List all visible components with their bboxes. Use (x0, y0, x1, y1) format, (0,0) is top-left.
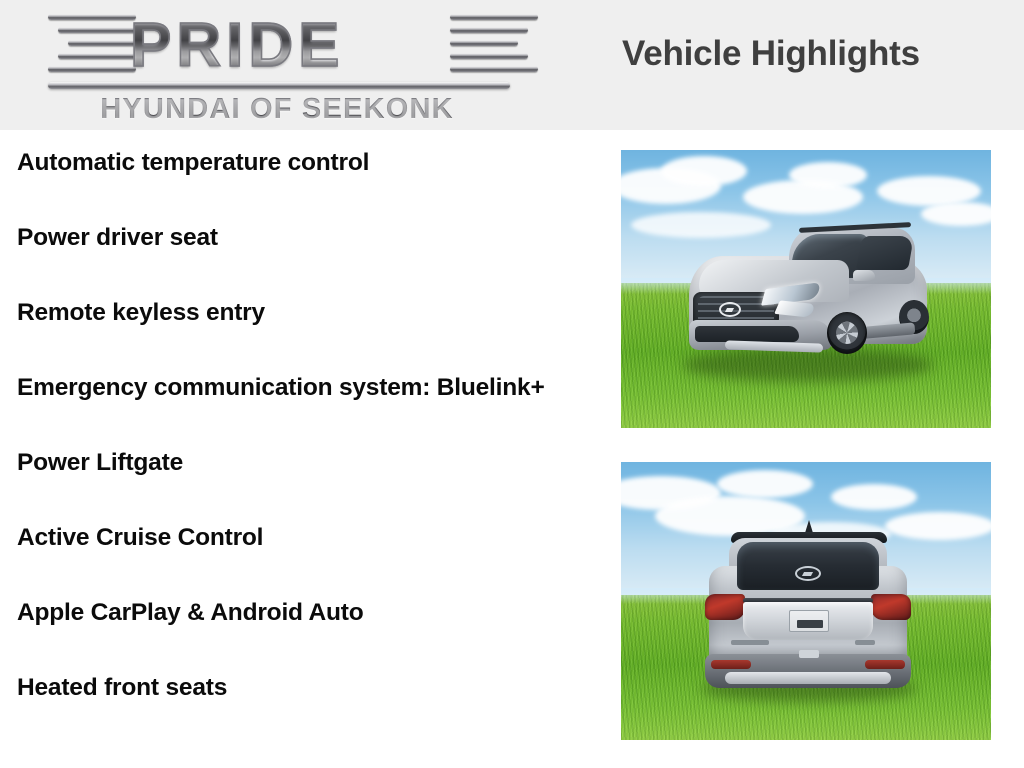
hyundai-emblem-icon (719, 302, 741, 317)
logo-underbar (48, 82, 510, 89)
page-title: Vehicle Highlights (622, 32, 920, 76)
vehicle-photo-rear[interactable] (621, 462, 991, 740)
header-band: PRIDE HYUNDAI OF SEEKONK Vehicle Highlig… (0, 0, 1024, 130)
logo-wordmark-text: PRIDE (130, 10, 344, 82)
list-item: Apple CarPlay & Android Auto (17, 596, 577, 629)
list-item: Automatic temperature control (17, 146, 577, 179)
license-plate-area (789, 610, 829, 632)
vehicle-front-illustration (681, 208, 941, 373)
vehicle-highlights-list: Automatic temperature control Power driv… (17, 146, 577, 704)
vehicle-highlights-page: PRIDE HYUNDAI OF SEEKONK Vehicle Highlig… (0, 0, 1024, 768)
logo-wordmark-wrap: PRIDE (22, 4, 532, 92)
list-item: Heated front seats (17, 671, 577, 704)
logo-right-wing-icon (450, 12, 554, 78)
hyundai-emblem-icon (795, 566, 821, 581)
logo-subtitle-text: HYUNDAI OF SEEKONK (22, 92, 532, 126)
list-item: Power Liftgate (17, 446, 577, 479)
list-item: Remote keyless entry (17, 296, 577, 329)
list-item: Active Cruise Control (17, 521, 577, 554)
vehicle-rear-illustration (703, 514, 913, 694)
dealer-logo[interactable]: PRIDE HYUNDAI OF SEEKONK (22, 4, 532, 126)
logo-left-wing-icon (32, 12, 136, 78)
list-item: Power driver seat (17, 221, 577, 254)
list-item: Emergency communication system: Bluelink… (17, 371, 577, 404)
vehicle-photo-front[interactable] (621, 150, 991, 428)
